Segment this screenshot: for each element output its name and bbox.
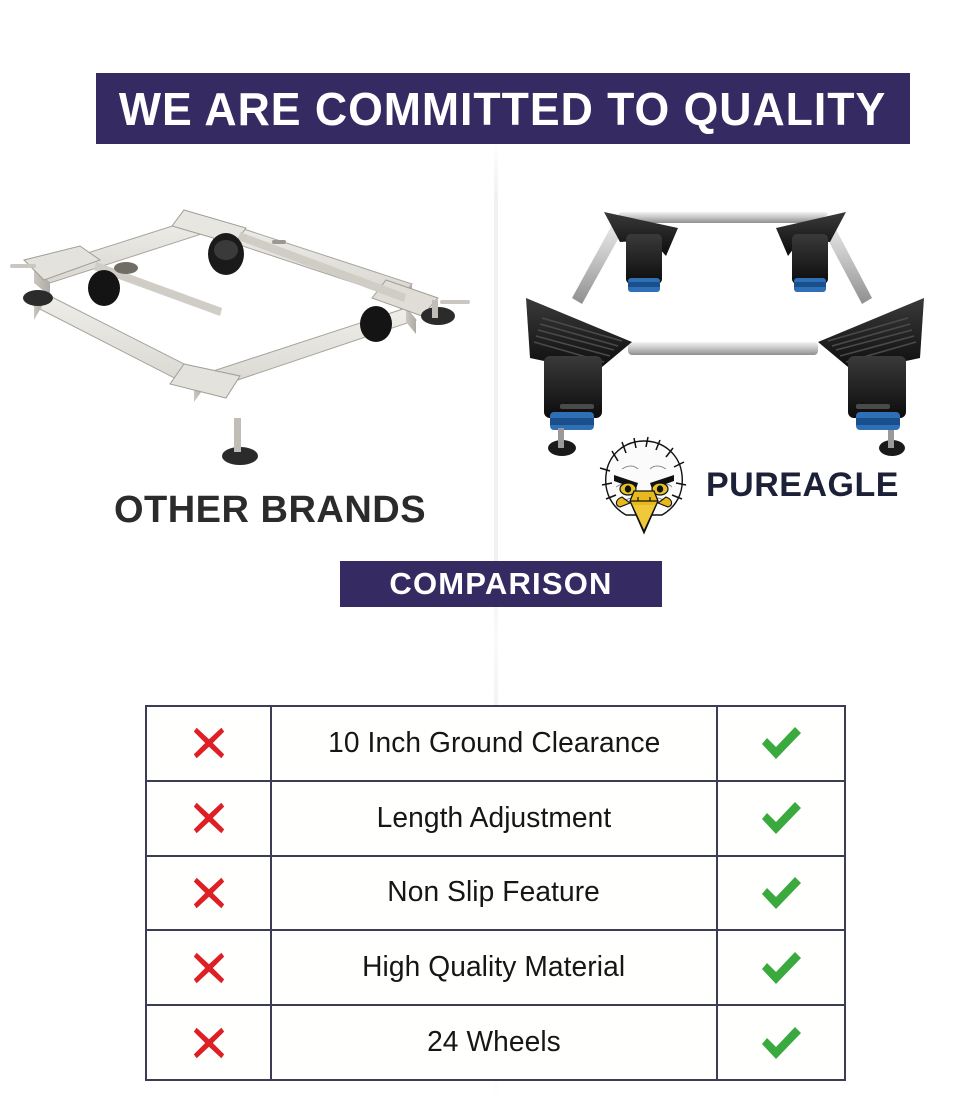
pureagle-brand-name: PUREAGLE xyxy=(706,466,899,505)
feature-label: Length Adjustment xyxy=(377,802,612,835)
cross-icon xyxy=(190,949,228,987)
other-brands-mark-cell xyxy=(147,1006,272,1079)
feature-cell: 10 Inch Ground Clearance xyxy=(272,707,716,780)
comparison-badge: COMPARISON xyxy=(340,561,662,607)
feature-cell: 24 Wheels xyxy=(272,1006,716,1079)
table-row: Non Slip Feature xyxy=(145,855,846,930)
feature-cell: Non Slip Feature xyxy=(272,857,716,930)
other-brand-product-image xyxy=(8,188,478,488)
cross-icon xyxy=(190,799,228,837)
pureagle-brand-block: PUREAGLE xyxy=(596,435,899,535)
cross-icon xyxy=(190,724,228,762)
feature-label: Non Slip Feature xyxy=(388,876,601,909)
feature-label: High Quality Material xyxy=(362,951,625,984)
table-row: 24 Wheels xyxy=(145,1004,846,1081)
table-row: 10 Inch Ground Clearance xyxy=(145,705,846,780)
pureagle-mark-cell xyxy=(716,707,844,780)
check-icon xyxy=(758,948,804,988)
feature-cell: Length Adjustment xyxy=(272,782,716,855)
pureagle-mark-cell xyxy=(716,782,844,855)
eagle-head-icon xyxy=(596,435,692,535)
other-brands-mark-cell xyxy=(147,782,272,855)
cross-icon xyxy=(190,1024,228,1062)
pureagle-mark-cell xyxy=(716,931,844,1004)
check-icon xyxy=(758,798,804,838)
pureagle-mark-cell xyxy=(716,1006,844,1079)
infographic-page: WE ARE COMMITTED TO QUALITY xyxy=(0,0,958,1108)
check-icon xyxy=(758,1023,804,1063)
quality-banner: WE ARE COMMITTED TO QUALITY xyxy=(96,73,910,144)
feature-label: 24 Wheels xyxy=(427,1026,561,1059)
table-row: High Quality Material xyxy=(145,929,846,1004)
comparison-table: 10 Inch Ground Clearance Length Adjustme… xyxy=(145,705,846,1081)
pureagle-product-image xyxy=(500,190,950,465)
quality-banner-text: WE ARE COMMITTED TO QUALITY xyxy=(119,82,886,136)
other-brands-label: OTHER BRANDS xyxy=(95,489,445,532)
check-icon xyxy=(758,723,804,763)
table-row: Length Adjustment xyxy=(145,780,846,855)
other-brands-mark-cell xyxy=(147,931,272,1004)
pureagle-mark-cell xyxy=(716,857,844,930)
comparison-badge-text: COMPARISON xyxy=(389,566,612,602)
feature-label: 10 Inch Ground Clearance xyxy=(328,727,660,760)
feature-cell: High Quality Material xyxy=(272,931,716,1004)
other-brands-mark-cell xyxy=(147,707,272,780)
check-icon xyxy=(758,873,804,913)
cross-icon xyxy=(190,874,228,912)
other-brands-mark-cell xyxy=(147,857,272,930)
